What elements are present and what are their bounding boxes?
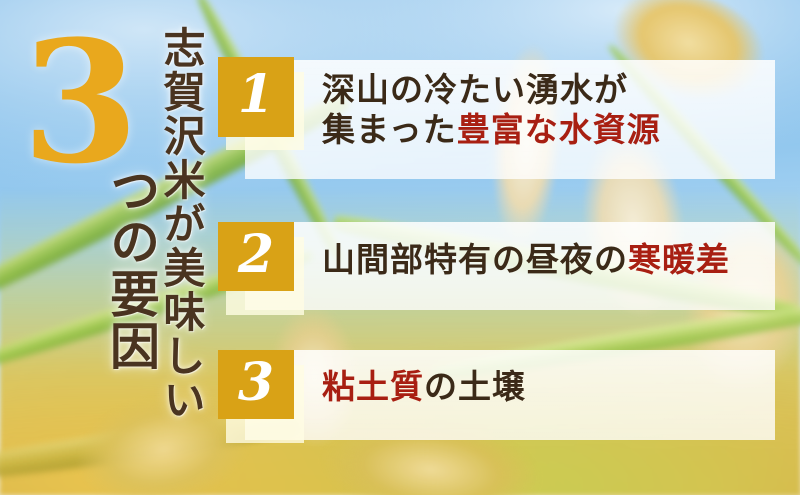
fact-number-badge-2: 2 [218, 222, 294, 291]
fact-text-plain: の土壌 [424, 367, 526, 406]
fact-text-line: 粘土質の土壌 [322, 367, 526, 407]
fact-text-3: 粘土質の土壌 [322, 367, 526, 407]
fact-number-badge-1: 1 [218, 57, 294, 137]
fact-text-line: 深山の冷たい湧水が [322, 70, 661, 110]
fact-text-line: 集まった豊富な水資源 [322, 110, 661, 150]
fact-number-badge-3: 3 [218, 350, 294, 419]
poster-canvas: 志賀沢米が美味しい つの要因 3 1 深山の冷たい湧水が 集まった豊富な水資源 … [0, 0, 800, 495]
fact-text-highlight: 豊富な水資源 [457, 110, 661, 149]
fact-text-1: 深山の冷たい湧水が 集まった豊富な水資源 [322, 70, 661, 151]
fact-text-line: 山間部特有の昼夜の寒暖差 [322, 240, 730, 280]
fact-text-plain: 山間部特有の昼夜の [322, 240, 628, 279]
fact-text-highlight: 寒暖差 [628, 240, 730, 279]
fact-text-2: 山間部特有の昼夜の寒暖差 [322, 240, 730, 280]
fact-text-highlight: 粘土質 [322, 367, 424, 406]
fact-text-plain: 集まった [322, 110, 457, 149]
facts-list: 1 深山の冷たい湧水が 集まった豊富な水資源 2 山間部特有の昼夜の寒暖差 3 … [0, 0, 800, 495]
fact-text-plain: 深山の冷たい湧水が [322, 70, 628, 109]
